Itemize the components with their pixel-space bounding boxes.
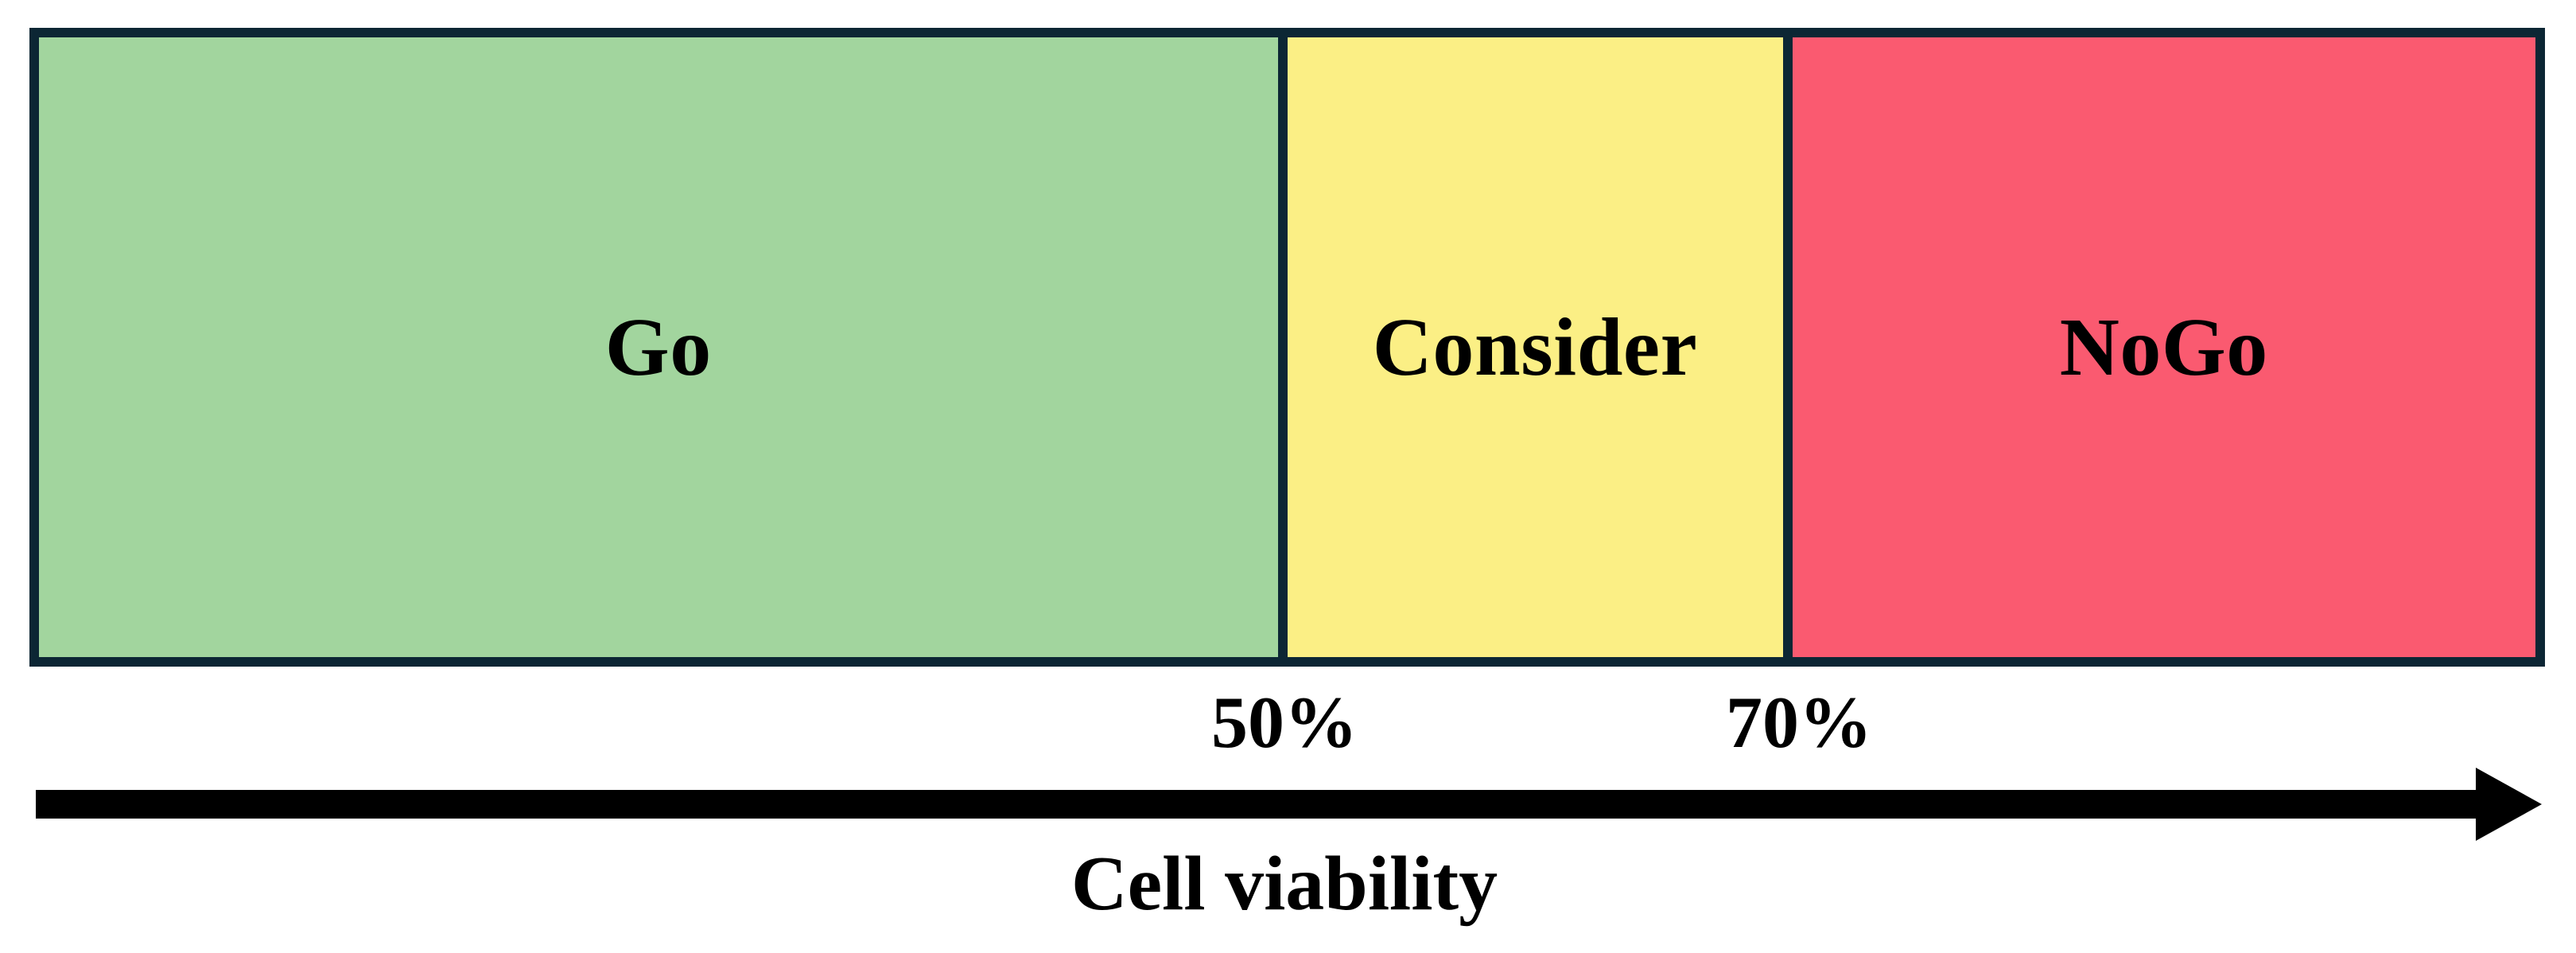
band-nogo[interactable]: NoGo <box>1783 37 2536 657</box>
band-nogo-label: NoGo <box>2060 306 2268 389</box>
threshold-label-70: 70% <box>1726 686 1872 759</box>
axis-title: Cell viability <box>1071 845 1498 923</box>
band-go-label: Go <box>605 306 712 389</box>
band-consider[interactable]: Consider <box>1278 37 1783 657</box>
threshold-label-50: 50% <box>1211 686 1358 759</box>
axis-arrow-icon <box>0 760 2576 847</box>
figure-canvas: Go Consider NoGo 50% 70% Cell viability <box>0 0 2576 953</box>
band-consider-label: Consider <box>1373 306 1697 389</box>
band-go[interactable]: Go <box>39 37 1278 657</box>
decision-band-bar: Go Consider NoGo <box>29 28 2545 667</box>
